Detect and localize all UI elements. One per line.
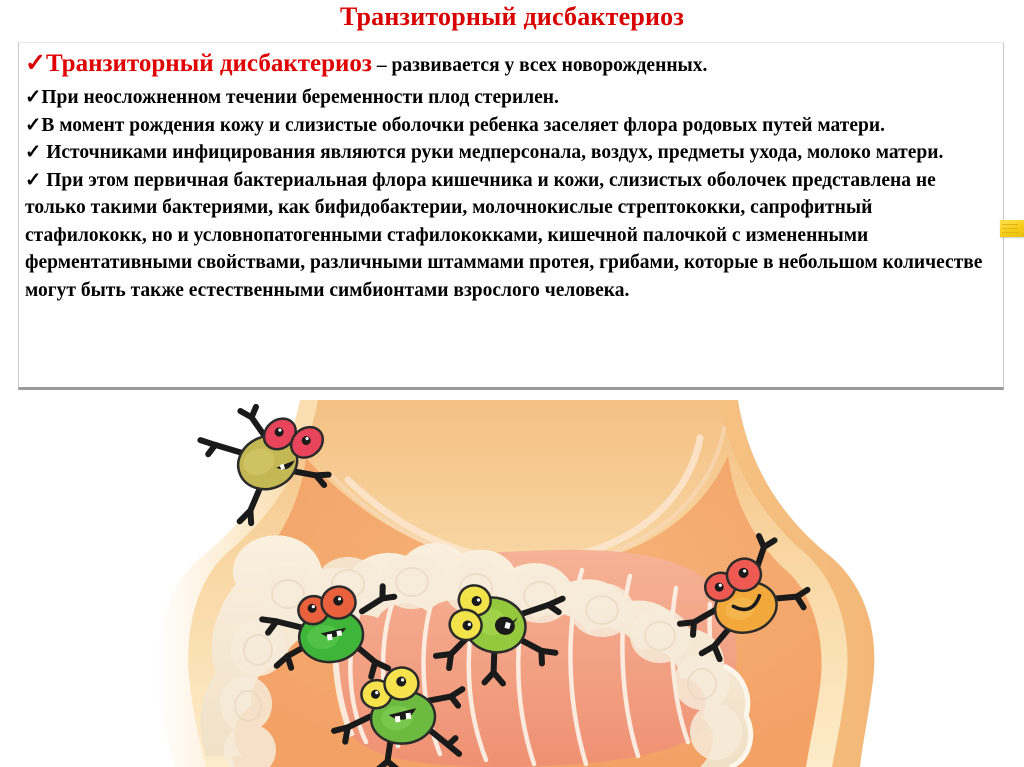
bullet-item-1: ✓Транзиторный дисбактериоз – развивается… (25, 47, 993, 83)
bullet-4-text: Источниками инфицирования являются руки … (41, 142, 943, 163)
bullet-2-text: При неосложненном течении беременности п… (41, 87, 559, 108)
checkmark-icon: ✓ (25, 142, 41, 163)
abdomen-illustration (0, 398, 1024, 767)
page-title: Транзиторный дисбактериоз (0, 2, 1024, 32)
checkmark-icon: ✓ (25, 115, 41, 136)
checkmark-icon: ✓ (25, 87, 41, 108)
bullet-item-3: ✓В момент рождения кожу и слизистые обол… (25, 112, 993, 140)
checkmark-icon: ✓ (25, 50, 46, 77)
bullet-item-2: ✓При неосложненном течении беременности … (25, 84, 993, 112)
content-textbox: ✓Транзиторный дисбактериоз – развивается… (18, 42, 1004, 390)
bullet-1-rest: – развивается у всех новорожденных. (372, 55, 707, 76)
bullet-item-5: ✓ При этом первичная бактериальная флора… (25, 167, 993, 305)
slide-root: Транзиторный дисбактериоз ✓Транзиторный … (0, 0, 1024, 767)
bullet-item-4: ✓ Источниками инфицирования являются рук… (25, 139, 993, 167)
bullet-5-text: При этом первичная бактериальная флора к… (25, 170, 982, 301)
checkmark-icon: ✓ (25, 170, 41, 191)
bullet-3-text: В момент рождения кожу и слизистые оболо… (41, 115, 885, 136)
bullet-1-emphasis: Транзиторный дисбактериоз (46, 50, 372, 77)
yellow-note-mark (1000, 220, 1024, 237)
